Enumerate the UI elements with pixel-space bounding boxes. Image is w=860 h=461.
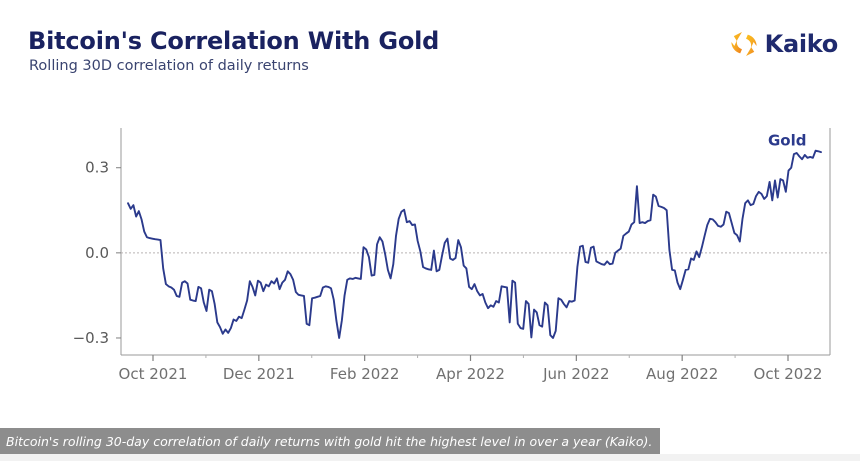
x-tick-label: Feb 2022 bbox=[330, 365, 400, 383]
caption-bar: Bitcoin's rolling 30-day correlation of … bbox=[0, 428, 660, 454]
bottom-strip bbox=[0, 454, 860, 461]
x-tick-label: Apr 2022 bbox=[436, 365, 505, 383]
chart-plot-area: −0.30.00.3 Oct 2021Dec 2021Feb 2022Apr 2… bbox=[0, 0, 860, 400]
series-label-gold: Gold bbox=[768, 132, 807, 150]
y-tick-label: −0.3 bbox=[73, 329, 109, 347]
chart-page: Bitcoin's Correlation With Gold Rolling … bbox=[0, 0, 860, 461]
x-tick-label: Dec 2021 bbox=[223, 365, 295, 383]
y-tick-label: 0.0 bbox=[85, 244, 109, 262]
x-tick-label: Oct 2022 bbox=[754, 365, 823, 383]
x-axis: Oct 2021Dec 2021Feb 2022Apr 2022Jun 2022… bbox=[119, 355, 823, 383]
y-tick-label: 0.3 bbox=[85, 159, 109, 177]
x-tick-label: Aug 2022 bbox=[646, 365, 718, 383]
x-tick-label: Oct 2021 bbox=[119, 365, 188, 383]
caption-text: Bitcoin's rolling 30-day correlation of … bbox=[6, 434, 652, 449]
correlation-line-chart: −0.30.00.3 Oct 2021Dec 2021Feb 2022Apr 2… bbox=[0, 0, 860, 400]
y-axis: −0.30.00.3 bbox=[73, 159, 121, 347]
x-tick-label: Jun 2022 bbox=[542, 365, 609, 383]
series-line-gold bbox=[128, 151, 821, 338]
